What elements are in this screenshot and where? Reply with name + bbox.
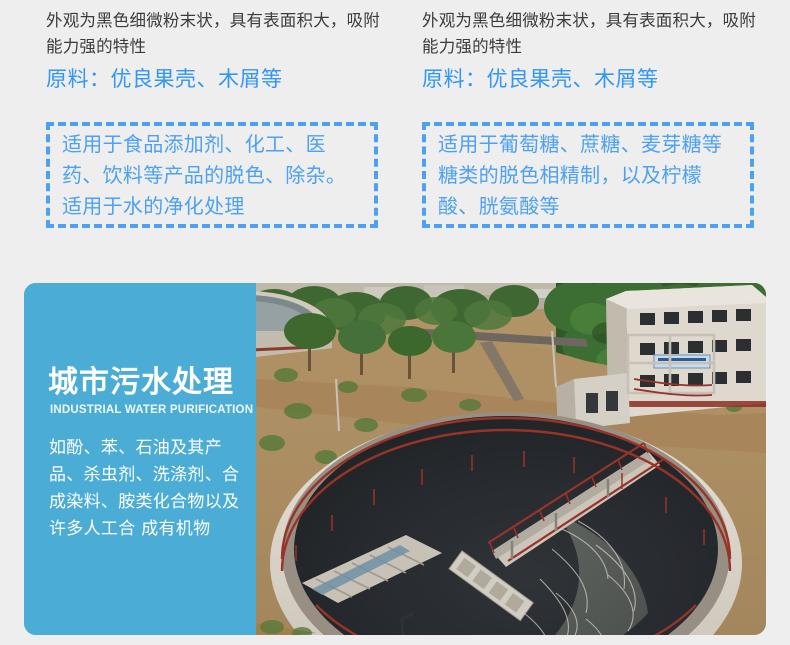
wastewater-plant-photo [256, 283, 766, 635]
spec-application-text-left: 适用于食品添加剂、化工、医药、饮料等产品的脱色、除杂。适用于水的净化处理 [50, 129, 374, 222]
banner-body-text: 如酚、苯、石油及其产品、杀虫剂、洗涤剂、合成染料、胺类化合物以及许多人工合 成有… [49, 435, 249, 543]
spec-description-left: 外观为黑色细微粉末状，具有表面积大，吸附能力强的特性 [46, 8, 381, 60]
banner-title: 城市污水处理 [48, 366, 234, 400]
spec-description-right: 外观为黑色细微粉末状，具有表面积大，吸附能力强的特性 [422, 8, 757, 60]
spec-column-right: 外观为黑色细微粉末状，具有表面积大，吸附能力强的特性 原料：优良果壳、木屑等 适… [400, 0, 765, 255]
application-banner: 城市污水处理 INDUSTRIAL WATER PURIFICATION 如酚、… [24, 283, 766, 635]
banner-caption-panel: 城市污水处理 INDUSTRIAL WATER PURIFICATION 如酚、… [24, 283, 256, 635]
banner-subtitle: INDUSTRIAL WATER PURIFICATION [50, 403, 253, 417]
spec-application-text-right: 适用于葡萄糖、蔗糖、麦芽糖等糖类的脱色相精制，以及柠檬酸、胱氨酸等 [426, 129, 750, 222]
spec-application-box-left: 适用于食品添加剂、化工、医药、饮料等产品的脱色、除杂。适用于水的净化处理 [46, 122, 378, 228]
spec-column-left: 外观为黑色细微粉末状，具有表面积大，吸附能力强的特性 原料：优良果壳、木屑等 适… [24, 0, 389, 255]
spec-material-left: 原料：优良果壳、木屑等 [46, 64, 386, 94]
product-specs-section: 外观为黑色细微粉末状，具有表面积大，吸附能力强的特性 原料：优良果壳、木屑等 适… [0, 0, 790, 255]
spec-material-right: 原料：优良果壳、木屑等 [422, 64, 762, 94]
spec-application-box-right: 适用于葡萄糖、蔗糖、麦芽糖等糖类的脱色相精制，以及柠檬酸、胱氨酸等 [422, 122, 754, 228]
